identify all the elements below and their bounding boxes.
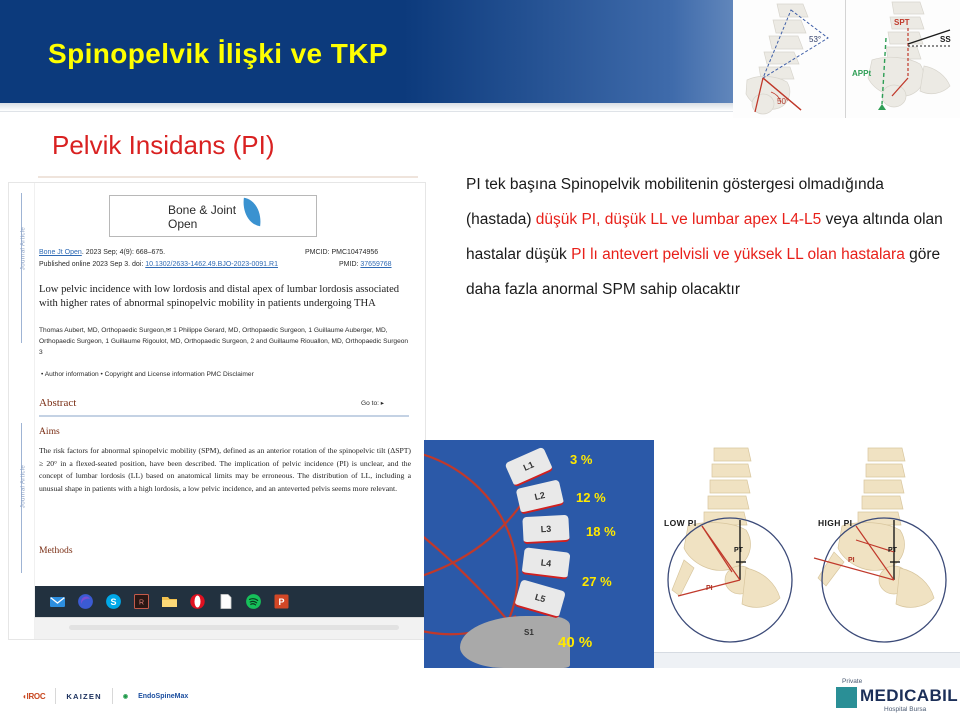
heading-rule — [38, 176, 418, 178]
footer-divider-2 — [112, 688, 113, 704]
spotify-icon[interactable] — [245, 593, 262, 610]
pmid-link[interactable]: 37659768 — [360, 261, 391, 268]
medicabil-logo: Private MEDICABIL Hospital Bursa — [808, 678, 948, 714]
medicabil-subtitle: Hospital Bursa — [884, 706, 926, 713]
svg-text:P: P — [278, 597, 284, 607]
footer-logo-strip: ◖IROC KAIZEN ◉ EndoSpineMax — [22, 682, 222, 710]
section-heading: Pelvik Insidans (PI) — [52, 130, 275, 161]
horizontal-scrollbar[interactable] — [69, 625, 399, 630]
opera-icon[interactable] — [189, 593, 206, 610]
journal-logo-text: Bone & Joint Open — [168, 203, 236, 231]
svg-text:53°: 53° — [809, 35, 821, 44]
pi-comparison-figure: LOW PI PT PI HIGH PI — [652, 440, 960, 668]
pmcid-text: PMCID: PMC10474956 — [305, 249, 378, 256]
abstract-rule — [39, 415, 409, 417]
pi-panel-low: LOW PI PT PI — [654, 440, 808, 652]
published-line: Published online 2023 Sep 3. doi: 10.130… — [39, 261, 278, 268]
vertebra-l3: L3 — [522, 515, 569, 544]
article-left-rail: Journal Article Journal Article — [9, 183, 35, 640]
citation-line: Bone Jt Open. 2023 Sep; 4(9): 668–675. — [39, 249, 165, 256]
journal-logo-line1: Bone & Joint — [168, 203, 236, 217]
svg-text:PT: PT — [888, 547, 898, 554]
journal-article-screenshot[interactable]: Journal Article Journal Article Bone & J… — [8, 182, 426, 640]
pi-panel-high: HIGH PI PT PI — [808, 440, 960, 652]
methods-heading: Methods — [39, 545, 73, 556]
edge-icon[interactable] — [77, 593, 94, 610]
rail-label-journal-article-2: Journal Article — [20, 457, 27, 517]
body-segment-2-highlight: düşük PI, düşük LL ve lumbar apex L4-L5 — [536, 211, 822, 228]
mail-icon[interactable] — [49, 593, 66, 610]
svg-text:PT: PT — [734, 547, 744, 554]
vertebra-label-s1: S1 — [524, 628, 534, 637]
published-prefix: Published online 2023 Sep 3. doi: — [39, 261, 145, 268]
aims-heading: Aims — [39, 426, 60, 437]
svg-text:50°: 50° — [777, 97, 789, 106]
percent-label-l1: 3 % — [570, 452, 592, 467]
percent-label-l4: 27 % — [582, 574, 612, 589]
lumbar-lordosis-distribution-figure: S1 L1 L2 L3 L4 L5 3 % 12 % 18 % 27 % 40 … — [424, 440, 652, 668]
journal-link[interactable]: Bone Jt Open — [39, 249, 82, 256]
document-icon[interactable] — [217, 593, 234, 610]
svg-text:SS: SS — [940, 35, 951, 44]
os-taskbar[interactable]: S R P — [35, 586, 426, 617]
medicabil-private-label: Private — [842, 678, 862, 685]
article-meta-links[interactable]: • Author information • Copyright and Lic… — [41, 371, 411, 378]
spinopelvic-tilt-angles-figure: SPT SS APPt — [846, 0, 960, 118]
medicabil-name: MEDICABIL — [860, 686, 958, 706]
pmid-line: PMID: 37659768 — [339, 261, 392, 268]
body-segment-4-highlight: PI lı antevert pelvisli ve yüksek LL ola… — [571, 246, 905, 263]
percent-label-l3: 18 % — [586, 524, 616, 539]
percent-label-l5: 40 % — [558, 634, 592, 651]
footer-divider-1 — [55, 688, 56, 704]
skype-icon[interactable]: S — [105, 593, 122, 610]
iroc-logo: ◖IROC — [22, 692, 45, 701]
powerpoint-icon[interactable]: P — [273, 593, 290, 610]
pi-panel-low-title: LOW PI — [664, 518, 697, 528]
header-figures: 53° 50° SPT SS APPt — [733, 0, 960, 118]
endospine-logo: EndoSpineMax — [138, 693, 188, 700]
pmid-label: PMID: — [339, 261, 360, 268]
abstract-text: The risk factors for abnormal spinopelvi… — [39, 445, 411, 495]
citation-rest: . 2023 Sep; 4(9): 668–675. — [82, 249, 165, 256]
journal-logo: Bone & Joint Open — [109, 195, 317, 237]
leaf-icon — [240, 198, 263, 227]
page-title: Spinopelvik İlişki ve TKP — [48, 38, 388, 70]
green-circle-logo: ◉ — [123, 693, 128, 700]
kaizen-logo: KAIZEN — [66, 692, 101, 701]
svg-text:PI: PI — [848, 557, 855, 564]
doi-link[interactable]: 10.1302/2633-1462.49.BJO-2023-0091.R1 — [145, 261, 278, 268]
svg-text:S: S — [110, 597, 116, 607]
medicabil-square-icon — [836, 687, 857, 708]
svg-text:R: R — [139, 600, 144, 607]
article-title: Low pelvic incidence with low lordosis a… — [39, 283, 409, 311]
svg-text:APPt: APPt — [852, 69, 871, 78]
journal-logo-line2: Open — [168, 217, 236, 231]
pi-panel-high-title: HIGH PI — [818, 518, 852, 528]
app-dark-icon[interactable]: R — [133, 593, 150, 610]
rail-label-journal-article-1: Journal Article — [20, 219, 27, 279]
pelvic-incidence-angles-figure: 53° 50° — [733, 0, 846, 118]
vertebra-l4: L4 — [522, 547, 571, 579]
article-authors: Thomas Aubert, MD, Orthopaedic Surgeon,✉… — [39, 325, 411, 358]
abstract-heading: Abstract — [39, 397, 76, 409]
svg-text:SPT: SPT — [894, 18, 910, 27]
percent-label-l2: 12 % — [576, 490, 606, 505]
goto-link[interactable]: Go to: ▸ — [361, 399, 384, 407]
pi-figure-bottom-bar — [654, 652, 960, 668]
body-paragraph: PI tek başına Spinopelvik mobilitenin gö… — [466, 167, 946, 307]
svg-text:PI: PI — [706, 585, 713, 592]
folder-icon[interactable] — [161, 593, 178, 610]
